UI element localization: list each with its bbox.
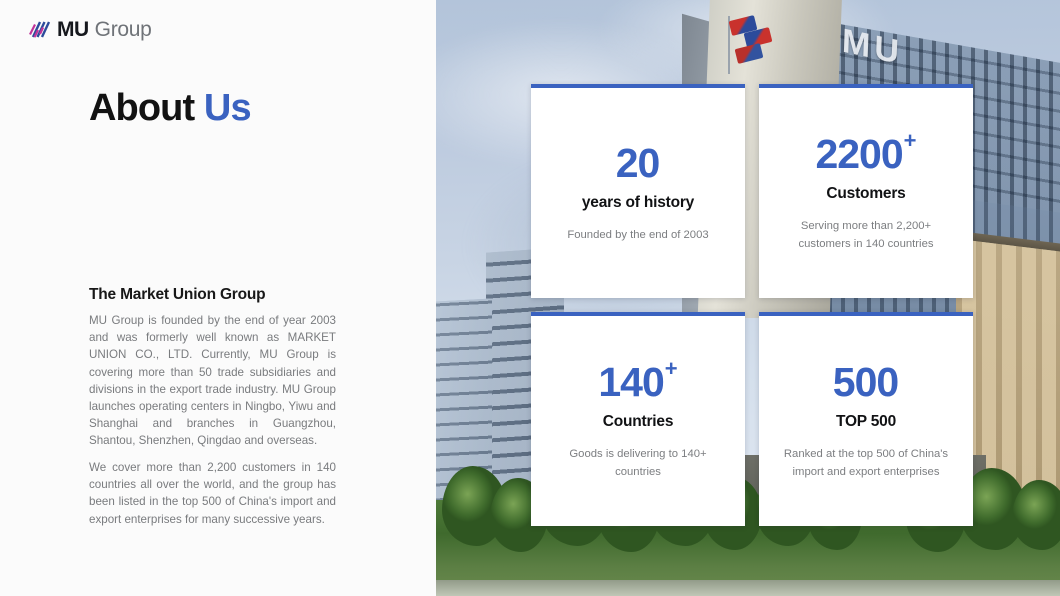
stat-label: years of history	[582, 194, 694, 212]
stat-number: 2200	[815, 134, 902, 175]
stat-number-row: 2200 +	[815, 134, 916, 175]
stat-card-years[interactable]: 20 years of history Founded by the end o…	[531, 84, 745, 298]
tree	[1012, 480, 1060, 550]
pavement	[436, 580, 1060, 596]
body-paragraph-1: MU Group is founded by the end of year 2…	[89, 312, 336, 450]
stat-description: Serving more than 2,200+ customers in 14…	[776, 217, 956, 253]
brand-name-bold: MU	[57, 19, 89, 40]
stat-description: Goods is delivering to 140+ countries	[548, 445, 728, 481]
brand-name-light: Group	[95, 19, 152, 40]
stat-card-top500[interactable]: 500 TOP 500 Ranked at the top 500 of Chi…	[759, 312, 973, 526]
left-content-panel: MU Group About Us The Market Union Group…	[0, 0, 436, 596]
stat-label: Customers	[826, 185, 905, 203]
diagonal-stripes-icon	[29, 21, 51, 38]
stat-label: TOP 500	[836, 413, 896, 431]
stat-number-row: 500	[833, 362, 899, 403]
stat-number: 140	[598, 362, 663, 403]
brand-logo[interactable]: MU Group	[29, 19, 152, 40]
stat-number-row: 140 +	[598, 362, 677, 403]
stat-number: 20	[616, 143, 660, 184]
stat-label: Countries	[603, 413, 674, 431]
body-paragraph-2: We cover more than 2,200 customers in 14…	[89, 459, 336, 528]
stats-card-grid: 20 years of history Founded by the end o…	[531, 84, 973, 528]
stat-description: Founded by the end of 2003	[567, 226, 708, 244]
stat-plus-sign: +	[665, 358, 678, 380]
page-title-main: About	[89, 87, 194, 129]
page-title: About Us	[89, 88, 251, 130]
about-us-page: MU Group About Us The Market Union Group…	[0, 0, 1060, 596]
section-title: The Market Union Group	[89, 286, 265, 304]
page-title-accent: Us	[204, 87, 251, 129]
stat-plus-sign: +	[904, 130, 917, 152]
stat-number: 500	[833, 362, 898, 403]
stat-card-countries[interactable]: 140 + Countries Goods is delivering to 1…	[531, 312, 745, 526]
stat-description: Ranked at the top 500 of China's import …	[776, 445, 956, 481]
stat-card-customers[interactable]: 2200 + Customers Serving more than 2,200…	[759, 84, 973, 298]
stat-number-row: 20	[616, 143, 661, 184]
